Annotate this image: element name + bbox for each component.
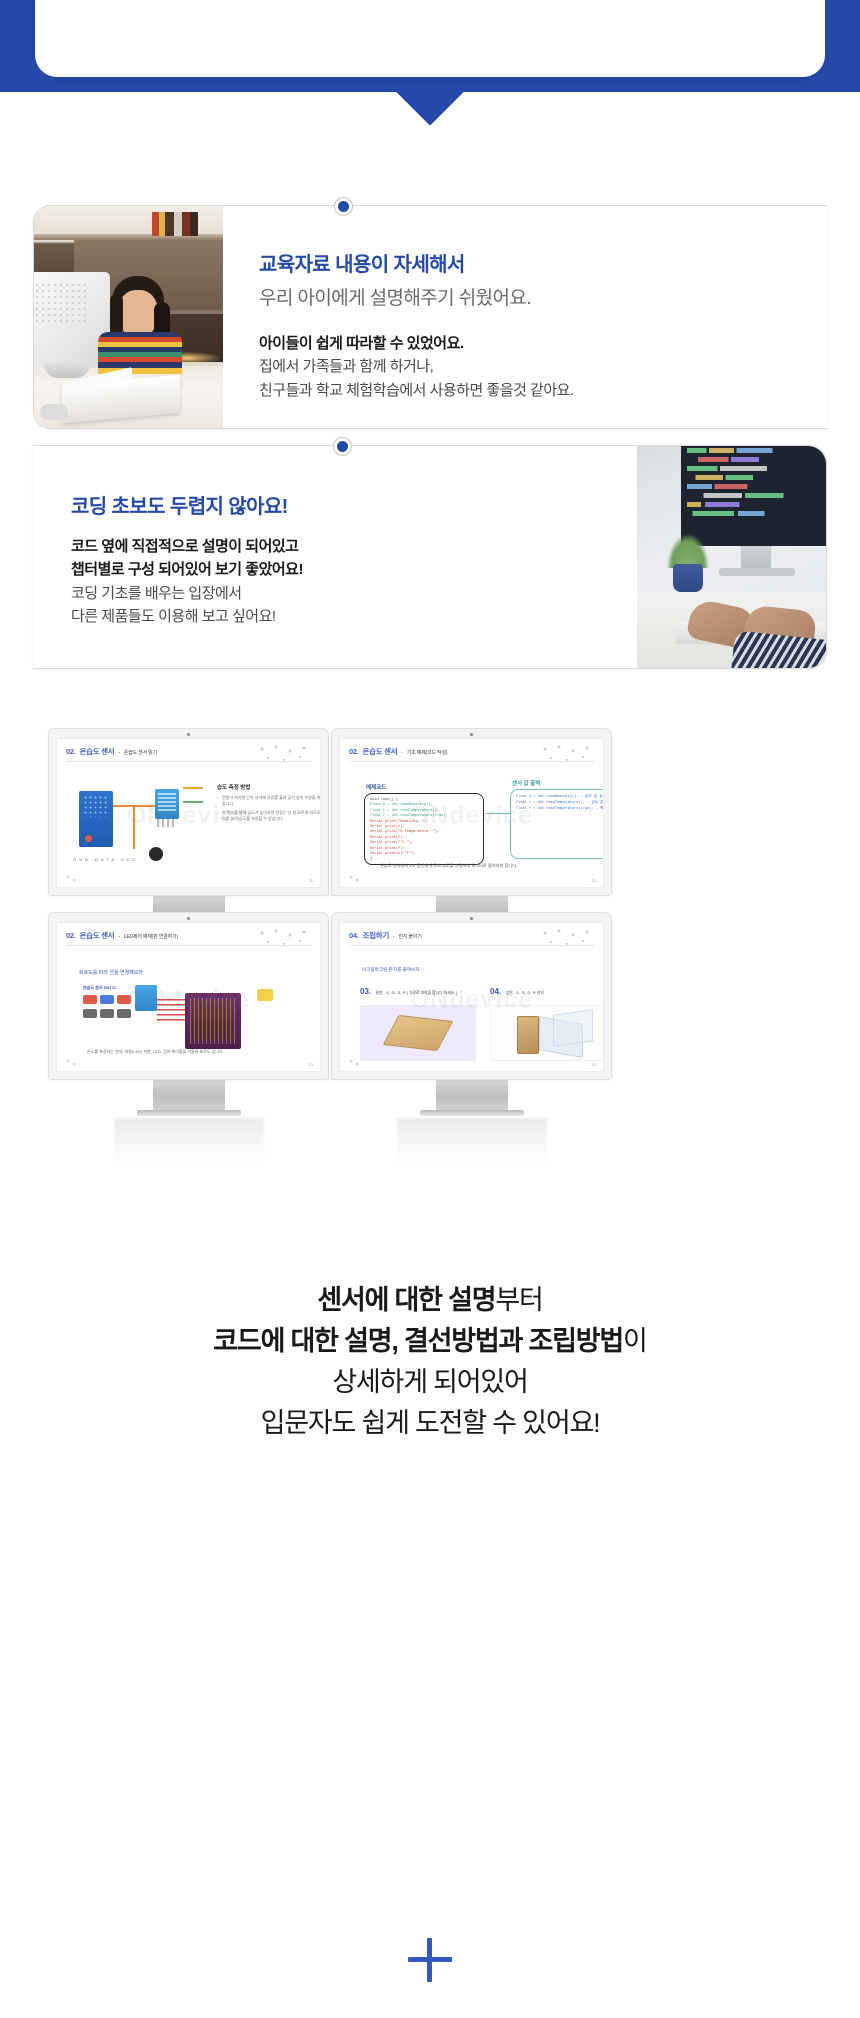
- slide-2: 02. 온습도 센서 - 기초 예제(코드 작성) 예제코드 void loop…: [340, 739, 603, 887]
- headline-line-2: 코드에 대한 설명, 결선방법과 조립방법이: [0, 1321, 860, 1362]
- assembly-hinge-image: [490, 1005, 604, 1061]
- chip-row-graphic: [83, 1009, 131, 1018]
- monitor-1-frame: 02. 온습도 센서 - 온습도 센서 읽기 GND DATA: [48, 728, 329, 896]
- slide-decoration-icon: [256, 928, 314, 948]
- slide-footer-icon: [65, 874, 79, 883]
- slide-1-bullet-1: 전원이 켜지면 단자 사이에 전류를 흘려 공기 중의 수분을 측정합니다.: [217, 795, 321, 807]
- slide-1: 02. 온습도 센서 - 온습도 센서 읽기 GND DATA: [57, 739, 320, 887]
- headline-line-1-rest: 부터: [495, 1285, 542, 1315]
- wire-graphic: [133, 805, 135, 849]
- plus-icon-section: [0, 1938, 860, 1982]
- testimonial-line-2b: 다른 제품들도 이용해 보고 싶어요!: [71, 605, 637, 628]
- monitor-2-screen: 02. 온습도 센서 - 기초 예제(코드 작성) 예제코드 void loop…: [339, 738, 604, 888]
- monitor-3-reflection: [114, 1118, 264, 1166]
- top-banner-tail: [0, 92, 860, 150]
- slide-1-dash: -: [118, 750, 119, 756]
- slide-4-step-left: 03. 밑판 - ①, ②, ③, ④ [ 가로로 부착을 합니다 하세요. ]: [360, 981, 476, 1061]
- monitor-4-frame: 04. 조립하기 - 힌지 붙이기 아크릴아크릴 판지를 붙여보자 03. 밑판…: [331, 912, 612, 1080]
- gnd-wire-graphic: [183, 801, 203, 803]
- plus-icon[interactable]: [408, 1938, 452, 1982]
- slide-2-note: 온습도 센서에서 1초 동안에 온도와 습도를 측정하여 모니터로 출력하게 합…: [380, 863, 517, 869]
- slide-4-check-line: 아크릴아크릴 판지를 붙여보자: [362, 967, 420, 973]
- testimonial-card-2[interactable]: 코딩 초보도 두렵지 않아요! 코드 옆에 직접적으로 설명이 되어있고 챕터별…: [33, 445, 827, 669]
- slide-2-code-heading: 예제코드: [366, 783, 386, 791]
- slide-3-check-line: 회로도를 따라 선을 연결해보자: [79, 969, 143, 976]
- slide-1-number: 02.: [66, 747, 76, 756]
- monitor-4[interactable]: 04. 조립하기 - 힌지 붙이기 아크릴아크릴 판지를 붙여보자 03. 밑판…: [331, 912, 612, 1166]
- slide-1-page-number: 11: [309, 878, 313, 883]
- slide-footer-icon: [348, 1058, 362, 1067]
- slide-3-chapter: 온습도 센서: [80, 930, 115, 941]
- monitor-3-screen: 02. 온습도 센서 - LED제어 예제(핀 연결하기) 회로도를 따라 선을…: [56, 922, 321, 1072]
- slide-3-page-number: 13: [309, 1062, 313, 1067]
- dht-sensor-graphic: [135, 985, 157, 1011]
- slide-1-chapter: 온습도 센서: [80, 746, 115, 757]
- dht-sensor-graphic: [155, 789, 179, 819]
- monitor-4-foot: [420, 1110, 524, 1116]
- monitor-1-screen: 02. 온습도 센서 - 온습도 센서 읽기 GND DATA: [56, 738, 321, 888]
- testimonial-strong-2a: 코드 옆에 직접적으로 설명이 되어있고: [71, 535, 637, 558]
- testimonial-photo-coder: [637, 446, 826, 668]
- slide-4-step-right-text: 앞면 - ①, ②, ③, ④ 힌지: [506, 991, 544, 995]
- top-white-panel: [35, 0, 825, 77]
- thermistor-graphic: [149, 847, 163, 861]
- testimonial-strong-2b: 챕터별로 구성 되어있어 보기 좋았어요!: [71, 558, 637, 581]
- slide-4-step-left-text: 밑판 - ①, ②, ③, ④ [ 가로로 부착을 합니다 하세요. ]: [376, 991, 458, 995]
- slide-3-dash: -: [118, 934, 119, 940]
- wires-graphic: [157, 999, 187, 1021]
- slide-2-explain-block: float h = dht.readHumidity(); → 습도 값 읽기 …: [510, 789, 604, 859]
- tail-mask-right: [462, 92, 860, 150]
- monitor-4-screen: 04. 조립하기 - 힌지 붙이기 아크릴아크릴 판지를 붙여보자 03. 밑판…: [339, 922, 604, 1072]
- testimonial-title-1: 교육자료 내용이 자세해서: [259, 248, 827, 277]
- testimonial-strong-1: 아이들이 쉽게 따라할 수 있었어요.: [259, 332, 827, 355]
- testimonial-photo-child: [34, 206, 223, 428]
- webcam-icon: [470, 733, 473, 736]
- dot-marker-icon: [333, 437, 352, 456]
- slide-4-step-right: 04. 앞면 - ①, ②, ③, ④ 힌지: [490, 981, 604, 1061]
- testimonial-title-2: 코딩 초보도 두렵지 않아요!: [71, 490, 637, 519]
- testimonial-text-1: 교육자료 내용이 자세해서 우리 아이에게 설명해주기 쉬웠어요. 아이들이 쉽…: [223, 206, 827, 428]
- headline-line-2-bold: 코드에 대한 설명, 결선방법과 조립방법: [213, 1326, 623, 1356]
- sensor-pins-graphic: [157, 819, 177, 827]
- slide-1-subtitle: 온습도 센서 읽기: [124, 749, 157, 756]
- mcu-board-graphic: [185, 993, 241, 1049]
- led-graphic: [257, 989, 273, 1001]
- slide-decoration-icon: [256, 744, 314, 764]
- slide-4-dash: -: [393, 934, 394, 940]
- slide-3-number: 02.: [66, 931, 76, 940]
- slide-3-chip-label: 온습도 센서 DHT11: [83, 985, 116, 991]
- slide-2-dash: -: [401, 750, 402, 756]
- bottom-headline: 센서에 대한 설명부터 코드에 대한 설명, 결선방법과 조립방법이 상세하게 …: [0, 1280, 860, 1444]
- slide-decoration-icon: [539, 928, 597, 948]
- slide-1-section-heading: 습도 측정 방법: [217, 783, 321, 791]
- monitor-3-frame: 02. 온습도 센서 - LED제어 예제(핀 연결하기) 회로도를 따라 선을…: [48, 912, 329, 1080]
- slide-footer-icon: [348, 874, 362, 883]
- slide-3: 02. 온습도 센서 - LED제어 예제(핀 연결하기) 회로도를 따라 선을…: [57, 923, 320, 1071]
- monitor-4-reflection: [397, 1118, 547, 1166]
- headline-line-1: 센서에 대한 설명부터: [0, 1280, 860, 1321]
- headline-line-3: 상세하게 되어있어: [0, 1362, 860, 1403]
- testimonial-subtitle-1: 우리 아이에게 설명해주기 쉬웠어요.: [259, 283, 827, 310]
- vcc-wire-graphic: [183, 787, 203, 789]
- led-graphic: [85, 835, 92, 842]
- slide-3-subtitle: LED제어 예제(핀 연결하기): [124, 933, 178, 940]
- connector-line: [486, 813, 510, 814]
- slide-2-code-block: void loop() { float h = dht.readHumidity…: [364, 793, 484, 865]
- headline-line-2-rest: 이: [623, 1326, 647, 1356]
- testimonial-line-2a: 코딩 기초를 배우는 입장에서: [71, 582, 637, 605]
- slide-4: 04. 조립하기 - 힌지 붙이기 아크릴아크릴 판지를 붙여보자 03. 밑판…: [340, 923, 603, 1071]
- slide-decoration-icon: [539, 744, 597, 764]
- explain-line: float f = dht.readTemperature(true); → 화…: [516, 806, 604, 812]
- slide-2-subtitle: 기초 예제(코드 작성): [407, 749, 448, 756]
- slide-4-subtitle: 힌지 붙이기: [398, 933, 421, 940]
- testimonial-text-2: 코딩 초보도 두렵지 않아요! 코드 옆에 직접적으로 설명이 되어있고 챕터별…: [33, 446, 637, 668]
- monitor-2-frame: 02. 온습도 센서 - 기초 예제(코드 작성) 예제코드 void loop…: [331, 728, 612, 896]
- webcam-icon: [470, 917, 473, 920]
- slide-4-chapter: 조립하기: [363, 930, 389, 941]
- slide-1-pin-labels: GND DATA VCC: [73, 857, 138, 862]
- slide-4-step-right-number: 04.: [490, 987, 501, 996]
- tail-mask-left: [0, 92, 398, 150]
- headline-line-4: 입문자도 쉽게 도전할 수 있어요!: [0, 1403, 860, 1444]
- testimonial-line-1b: 친구들과 학교 체험학습에서 사용하면 좋을것 같아요.: [259, 379, 827, 402]
- monitor-3-stand: [153, 1080, 225, 1110]
- testimonial-section: 교육자료 내용이 자세해서 우리 아이에게 설명해주기 쉬웠어요. 아이들이 쉽…: [0, 205, 860, 685]
- slide-1-bullet-2: 이 원리를 통해 습도가 높아지면 전류는 더 잘 흐르게 되므로 이를 읽어 …: [217, 810, 321, 822]
- slide-2-right-heading: 센서 값 출력: [512, 779, 540, 787]
- slide-4-step-left-number: 03.: [360, 987, 371, 996]
- headline-line-1-bold: 센서에 대한 설명: [317, 1285, 495, 1315]
- slide-4-page-number: 14: [592, 1062, 596, 1067]
- assembly-plate-image: [360, 1005, 476, 1061]
- monitor-3-foot: [137, 1110, 241, 1116]
- monitor-gallery: 02. 온습도 센서 - 온습도 센서 읽기 GND DATA: [0, 712, 860, 1182]
- slide-2-chapter: 온습도 센서: [363, 746, 398, 757]
- webcam-icon: [187, 733, 190, 736]
- webcam-icon: [187, 917, 190, 920]
- slide-4-number: 04.: [349, 931, 359, 940]
- monitor-3[interactable]: 02. 온습도 센서 - LED제어 예제(핀 연결하기) 회로도를 따라 선을…: [48, 912, 329, 1166]
- slide-2-page-number: 12: [592, 878, 596, 883]
- slide-footer-icon: [65, 1058, 79, 1067]
- slide-3-bottom-note: 온도를 측정하는 센서, 저항(LED) 저항, LED, 점퍼 케이블을 이용…: [87, 1049, 224, 1055]
- dot-marker-icon: [334, 197, 353, 216]
- chip-row-graphic: [83, 995, 131, 1004]
- testimonial-card-1[interactable]: 교육자료 내용이 자세해서 우리 아이에게 설명해주기 쉬웠어요. 아이들이 쉽…: [33, 205, 827, 429]
- code-line: }: [370, 857, 478, 862]
- slide-2-number: 02.: [349, 747, 359, 756]
- monitor-4-stand: [436, 1080, 508, 1110]
- testimonial-line-1a: 집에서 가족들과 함께 하거나,: [259, 355, 827, 378]
